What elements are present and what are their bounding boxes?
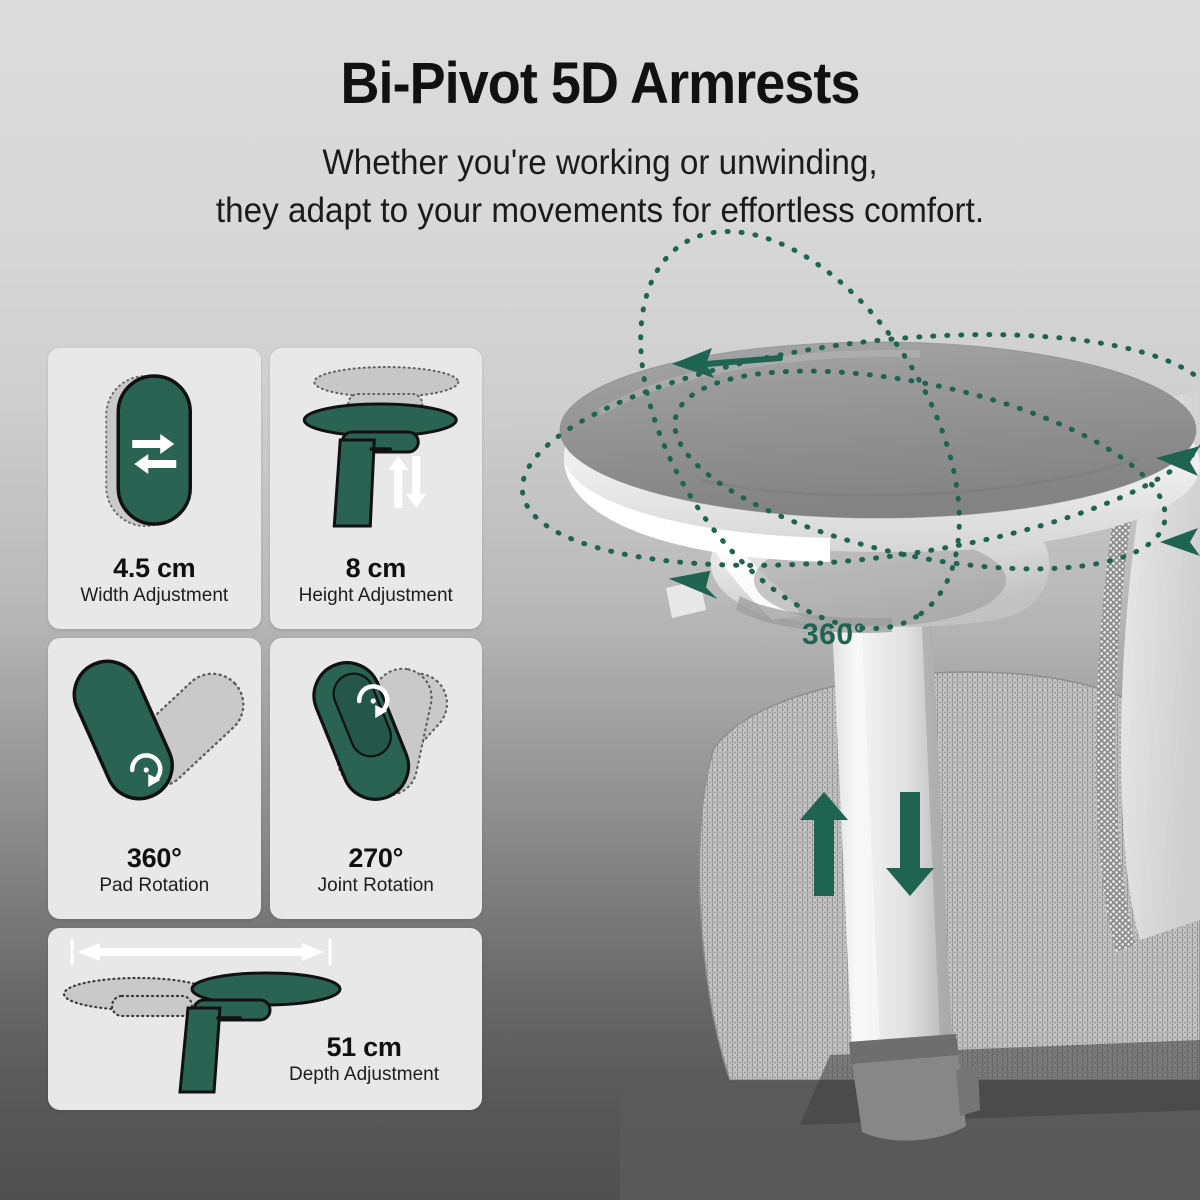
card-caption: 360° Pad Rotation bbox=[48, 843, 261, 899]
armrest-pad bbox=[560, 342, 1200, 562]
card-row-1: 4.5 cm Width Adjustment bbox=[48, 348, 482, 629]
feature-card-height-adjustment[interactable]: 8 cm Height Adjustment bbox=[270, 348, 483, 629]
depth-range-arrow bbox=[72, 940, 330, 964]
card-row-3: 51 cm Depth Adjustment bbox=[48, 928, 482, 1110]
card-art bbox=[270, 348, 483, 553]
pill-rotate-icon bbox=[48, 638, 261, 843]
feature-card-pad-rotation[interactable]: 360° Pad Rotation bbox=[48, 638, 261, 919]
card-label: Width Adjustment bbox=[48, 584, 261, 609]
card-art bbox=[270, 638, 483, 843]
card-metric: 8 cm bbox=[270, 553, 483, 583]
page-title: Bi-Pivot 5D Armrests bbox=[42, 50, 1158, 117]
product-photo: 360° bbox=[500, 280, 1200, 1200]
card-metric: 360° bbox=[48, 843, 261, 873]
header: Bi-Pivot 5D Armrests Whether you're work… bbox=[0, 0, 1200, 236]
feature-card-joint-rotation[interactable]: 270° Joint Rotation bbox=[270, 638, 483, 919]
card-caption: 8 cm Height Adjustment bbox=[270, 553, 483, 609]
card-caption: 270° Joint Rotation bbox=[270, 843, 483, 899]
card-metric: 4.5 cm bbox=[48, 553, 261, 583]
card-label: Joint Rotation bbox=[270, 874, 483, 899]
subtitle-line-1: Whether you're working or unwinding, bbox=[30, 139, 1170, 187]
armrest-side-view-vertical-arrows-icon bbox=[270, 348, 483, 553]
feature-card-width-adjustment[interactable]: 4.5 cm Width Adjustment bbox=[48, 348, 261, 629]
card-metric: 51 cm bbox=[264, 1032, 464, 1062]
pill-top-view-horizontal-arrows-icon bbox=[48, 348, 261, 553]
promo-graphic: Bi-Pivot 5D Armrests Whether you're work… bbox=[0, 0, 1200, 1200]
card-caption: 51 cm Depth Adjustment bbox=[264, 1032, 464, 1088]
subtitle-line-2: they adapt to your movements for effortl… bbox=[30, 187, 1170, 235]
feature-card-depth-adjustment[interactable]: 51 cm Depth Adjustment bbox=[48, 928, 482, 1110]
card-metric: 270° bbox=[270, 843, 483, 873]
card-label: Pad Rotation bbox=[48, 874, 261, 899]
card-art bbox=[48, 638, 261, 843]
armrest-illustration bbox=[500, 280, 1200, 1200]
page-subtitle: Whether you're working or unwinding, the… bbox=[30, 139, 1170, 236]
joint-rotate-icon bbox=[270, 638, 483, 843]
feature-card-grid: 4.5 cm Width Adjustment bbox=[48, 348, 482, 1119]
card-caption: 4.5 cm Width Adjustment bbox=[48, 553, 261, 609]
card-row-2: 360° Pad Rotation bbox=[48, 638, 482, 919]
rotation-degree-label: 360° bbox=[802, 618, 866, 652]
card-label: Height Adjustment bbox=[270, 584, 483, 609]
card-art bbox=[48, 348, 261, 553]
card-label: Depth Adjustment bbox=[264, 1063, 464, 1088]
